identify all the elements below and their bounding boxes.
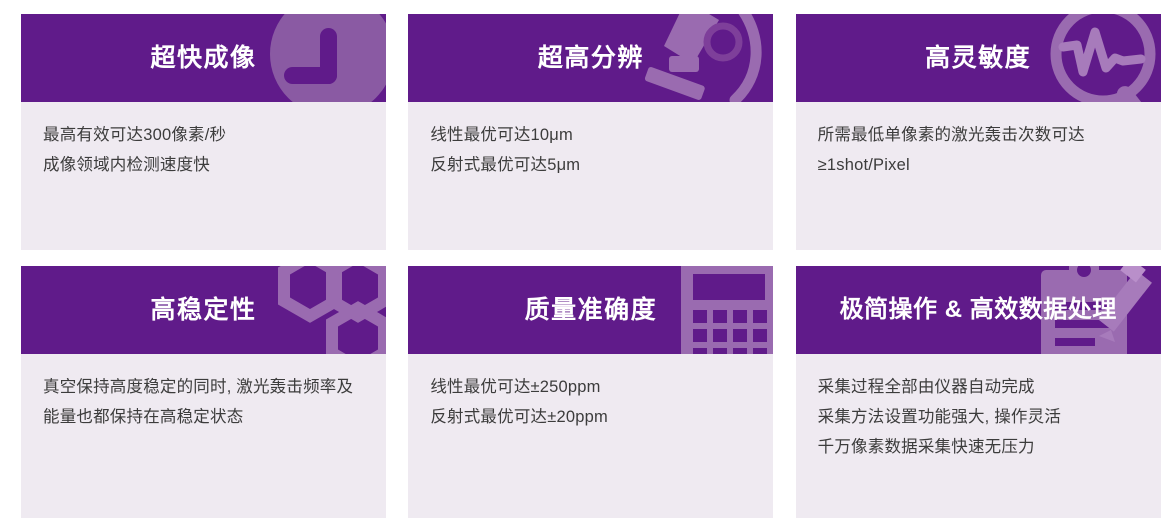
card-header: 超高分辨 <box>408 14 773 102</box>
card-body-line: 千万像素数据采集快速无压力 <box>818 432 1139 462</box>
feature-card-high-sensitivity: 高灵敏度 所需最低单像素的激光轰击次数可达≥1shot/Pixel <box>796 14 1161 250</box>
card-header: 质量准确度 <box>408 266 773 354</box>
card-title: 高稳定性 <box>150 298 256 323</box>
card-header: 高稳定性 <box>21 266 386 354</box>
card-body: 最高有效可达300像素/秒 成像领域内检测速度快 <box>21 102 386 250</box>
card-header: 超快成像 <box>21 14 386 102</box>
clock-icon <box>236 14 386 102</box>
microscope-icon <box>623 14 773 102</box>
card-title: 质量准确度 <box>525 298 658 323</box>
card-body-line: 线性最优可达±250ppm <box>430 372 751 402</box>
card-body-line: 反射式最优可达±20ppm <box>430 402 751 432</box>
feature-card-mass-accuracy: 质量准确度 线性最优可达±250ppm 反射式最优可达±20ppm <box>408 266 773 518</box>
card-body: 采集过程全部由仪器自动完成 采集方法设置功能强大, 操作灵活 千万像素数据采集快… <box>796 354 1161 518</box>
card-title: 超高分辨 <box>538 46 644 71</box>
honeycomb-icon <box>236 266 386 354</box>
card-body: 线性最优可达10μm 反射式最优可达5μm <box>408 102 773 250</box>
feature-card-high-stability: 高稳定性 真空保持高度稳定的同时, 激光轰击频率及能量也都保持在高稳定状态 <box>21 266 386 518</box>
card-header: 高灵敏度 <box>796 14 1161 102</box>
card-body: 真空保持高度稳定的同时, 激光轰击频率及能量也都保持在高稳定状态 <box>21 354 386 518</box>
feature-card-ultra-fast-imaging: 超快成像 最高有效可达300像素/秒 成像领域内检测速度快 <box>21 14 386 250</box>
card-title: 极简操作 & 高效数据处理 <box>840 298 1117 322</box>
card-body-line: 真空保持高度稳定的同时, 激光轰击频率及能量也都保持在高稳定状态 <box>43 372 364 432</box>
card-body-line: 反射式最优可达5μm <box>430 150 751 180</box>
card-body-line: 所需最低单像素的激光轰击次数可达≥1shot/Pixel <box>818 120 1139 180</box>
feature-card-ultra-high-resolution: 超高分辨 线性最优可达10μm 反射式最优可达5μm <box>408 14 773 250</box>
card-header: 极简操作 & 高效数据处理 <box>796 266 1161 354</box>
card-title: 超快成像 <box>150 46 256 71</box>
card-body-line: 线性最优可达10μm <box>430 120 751 150</box>
feature-card-grid: 超快成像 最高有效可达300像素/秒 成像领域内检测速度快 <box>0 0 1167 488</box>
card-body-line: 采集方法设置功能强大, 操作灵活 <box>818 402 1139 432</box>
magnifier-waveform-icon <box>1011 14 1161 102</box>
card-body: 线性最优可达±250ppm 反射式最优可达±20ppm <box>408 354 773 518</box>
card-title: 高灵敏度 <box>925 46 1031 71</box>
card-body-line: 成像领域内检测速度快 <box>43 150 364 180</box>
card-body-line: 采集过程全部由仪器自动完成 <box>818 372 1139 402</box>
card-body-line: 最高有效可达300像素/秒 <box>43 120 364 150</box>
feature-card-simple-operation-data-processing: 极简操作 & 高效数据处理 采集过程全部由仪器自动完成 采集方法设置功能强大, … <box>796 266 1161 518</box>
card-body: 所需最低单像素的激光轰击次数可达≥1shot/Pixel <box>796 102 1161 250</box>
